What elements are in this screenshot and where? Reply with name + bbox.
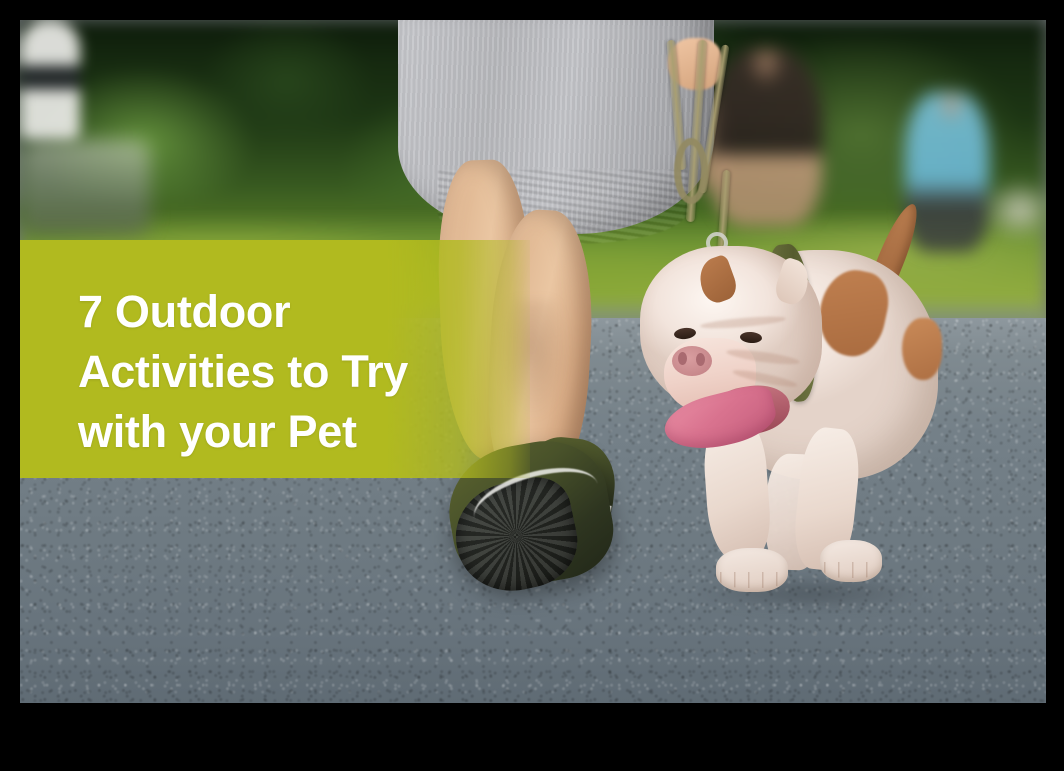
dog-right-nostril xyxy=(696,353,705,366)
dog-right-eye xyxy=(740,331,763,344)
blog-header-photo-card[interactable]: 7 Outdoor Activities to Try with your Pe… xyxy=(20,20,1046,703)
dog-front-right-toes xyxy=(824,562,880,578)
dog-front-left-toes xyxy=(720,572,784,588)
dog-left-nostril xyxy=(678,352,687,365)
headline-banner: 7 Outdoor Activities to Try with your Pe… xyxy=(20,240,530,478)
dog-left-ear xyxy=(694,254,741,307)
leash-loop xyxy=(674,138,708,204)
background-bollard xyxy=(20,20,80,140)
headline-title: 7 Outdoor Activities to Try with your Pe… xyxy=(78,282,508,462)
page-root: 7 Outdoor Activities to Try with your Pe… xyxy=(0,0,1064,771)
dog-head xyxy=(640,246,822,414)
background-vehicle xyxy=(20,140,150,236)
dog-forehead-wrinkle xyxy=(700,314,786,330)
dog-left-eye xyxy=(673,327,696,340)
dog-brown-patch-hip xyxy=(902,318,942,380)
background-light-blob xyxy=(982,180,1046,240)
dog xyxy=(620,210,950,610)
